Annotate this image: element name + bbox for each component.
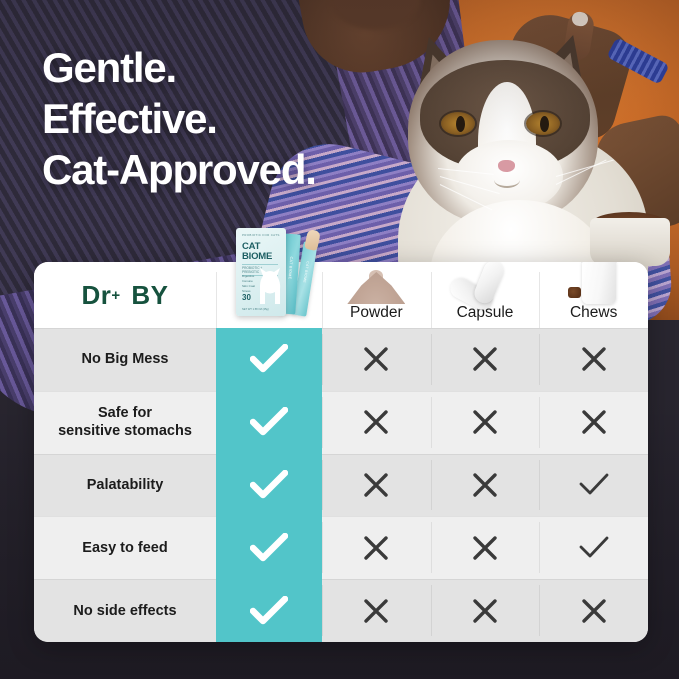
cell-brand [216, 516, 322, 579]
row-label: No Big Mess [73, 350, 176, 368]
paste-dollop [304, 229, 321, 251]
pack-count: 30 [242, 293, 251, 302]
row-label: Easy to feed [74, 539, 175, 557]
check-icon [574, 469, 614, 501]
cross-icon [465, 595, 505, 627]
product-box: PROBIOTIC FOR CATS CAT BIOME PROBIOTIC +… [236, 228, 286, 316]
row-label: Safe for sensitive stomachs [50, 404, 200, 440]
cell-chews [539, 579, 648, 642]
cross-icon [465, 469, 505, 501]
pack-title-line-2: BIOME [242, 252, 272, 262]
column-label-capsule: Capsule [457, 304, 514, 328]
cell-brand [216, 328, 322, 391]
column-label-powder: Powder [350, 304, 403, 328]
pack-footer: NET WT 1.58 OZ (45g) [242, 308, 269, 311]
check-icon [249, 532, 289, 564]
cross-icon [356, 343, 396, 375]
sachet-label-1: CAT BIOME [287, 251, 293, 285]
column-divider [539, 272, 540, 328]
cell-capsule [431, 328, 540, 391]
cell-brand [216, 391, 322, 454]
row-label-line-1: Safe for [58, 404, 192, 422]
pack-bullets: DigestiveImmuneSkin CoatStress [242, 274, 255, 294]
cat-biome-pack-icon: CAT BIOME CAT BIOME PROBIOTIC FOR CATS C… [232, 228, 324, 318]
pack-top-line: PROBIOTIC FOR CATS [242, 233, 280, 237]
cell-capsule [431, 454, 540, 517]
cross-icon [465, 406, 505, 438]
cell-powder [322, 391, 431, 454]
table-row: Safe for sensitive stomachs [34, 391, 648, 454]
brand-logo: Dr+ BY [34, 262, 216, 328]
column-divider [431, 272, 432, 328]
cat-silhouette-icon [257, 266, 283, 306]
check-icon [249, 595, 289, 627]
sachet-label-2: CAT BIOME [301, 255, 310, 289]
row-label: No side effects [65, 602, 184, 620]
cross-icon [356, 469, 396, 501]
row-label-cell: Easy to feed [34, 516, 216, 579]
cross-icon [574, 595, 614, 627]
brand-name-suffix: BY [131, 280, 168, 311]
cell-chews [539, 328, 648, 391]
cell-brand [216, 454, 322, 517]
cell-chews [539, 454, 648, 517]
cell-capsule [431, 391, 540, 454]
column-divider [216, 272, 217, 328]
row-label: Palatability [79, 476, 172, 494]
headline-line-3: Cat-Approved. [42, 144, 442, 195]
table-row: Palatability [34, 454, 648, 517]
chews-jar-icon [539, 262, 648, 304]
cell-chews [539, 516, 648, 579]
cross-icon [465, 343, 505, 375]
column-header-chews: Chews [539, 262, 648, 328]
cell-powder [322, 516, 431, 579]
row-label-line-2: sensitive stomachs [58, 422, 192, 440]
cross-icon [356, 595, 396, 627]
cell-capsule [431, 516, 540, 579]
column-header-powder: Powder [322, 262, 431, 328]
cell-chews [539, 391, 648, 454]
cross-icon [574, 343, 614, 375]
row-label-cell: Palatability [34, 454, 216, 517]
column-header-capsule: Capsule [431, 262, 540, 328]
headline: Gentle. Effective. Cat-Approved. [42, 42, 442, 196]
cell-brand [216, 579, 322, 642]
row-label-cell: Safe for sensitive stomachs [34, 391, 216, 454]
check-icon [574, 532, 614, 564]
headline-line-2: Effective. [42, 93, 442, 144]
table-row: No Big Mess [34, 328, 648, 391]
cross-icon [574, 406, 614, 438]
powder-mound-icon [322, 262, 431, 304]
cell-powder [322, 328, 431, 391]
comparison-table: Dr+ BY Powder Capsu [34, 262, 648, 642]
row-label-cell: No side effects [34, 579, 216, 642]
cross-icon [356, 406, 396, 438]
brand-name-prefix: Dr [81, 280, 111, 311]
cell-powder [322, 454, 431, 517]
brand-logo-cell: Dr+ BY [34, 262, 216, 328]
table-row: Easy to feed [34, 516, 648, 579]
table-row: No side effects [34, 579, 648, 642]
cross-icon [356, 532, 396, 564]
row-label-cell: No Big Mess [34, 328, 216, 391]
column-label-chews: Chews [570, 304, 617, 328]
headline-line-1: Gentle. [42, 42, 442, 93]
brand-name-plus: + [111, 287, 120, 304]
cell-capsule [431, 579, 540, 642]
cell-powder [322, 579, 431, 642]
check-icon [249, 406, 289, 438]
check-icon [249, 343, 289, 375]
capsule-pills-icon [431, 262, 540, 304]
pack-title: CAT BIOME [242, 242, 272, 261]
check-icon [249, 469, 289, 501]
table-header-row: Dr+ BY Powder Capsu [34, 262, 648, 328]
cross-icon [465, 532, 505, 564]
